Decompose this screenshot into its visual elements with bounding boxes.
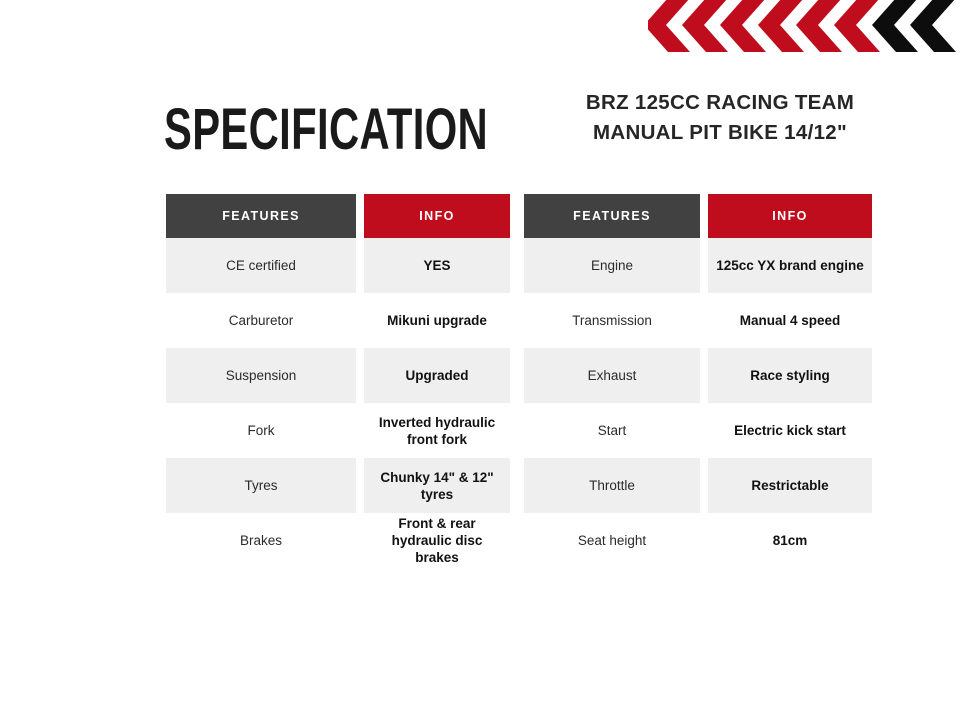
table-row: YES (364, 238, 510, 293)
table-row: 81cm (708, 513, 872, 568)
column-header-features: FEATURES (166, 194, 356, 238)
product-title-line-2: MANUAL PIT BIKE 14/12" (520, 118, 920, 148)
table-row: Manual 4 speed (708, 293, 872, 348)
table-row: Transmission (524, 293, 700, 348)
table-row: Throttle (524, 458, 700, 513)
table-row: Restrictable (708, 458, 872, 513)
table-row: Seat height (524, 513, 700, 568)
product-title: BRZ 125CC RACING TEAM MANUAL PIT BIKE 14… (520, 88, 920, 148)
table-row: Chunky 14" & 12" tyres (364, 458, 510, 513)
table-row: Tyres (166, 458, 356, 513)
right-table: FEATURES Engine Transmission Exhaust Sta… (524, 194, 880, 568)
table-row: Upgraded (364, 348, 510, 403)
table-row: Start (524, 403, 700, 458)
table-row: Engine (524, 238, 700, 293)
table-row: Exhaust (524, 348, 700, 403)
table-row: Front & rear hydraulic disc brakes (364, 513, 510, 568)
chevron-icon (910, 0, 956, 52)
table-row: Suspension (166, 348, 356, 403)
chevron-band (648, 0, 960, 52)
table-row: Brakes (166, 513, 356, 568)
table-row: Mikuni upgrade (364, 293, 510, 348)
table-row: Inverted hydraulic front fork (364, 403, 510, 458)
table-row: Fork (166, 403, 356, 458)
specification-tables: FEATURES CE certified Carburetor Suspens… (166, 194, 880, 568)
column-header-info: INFO (364, 194, 510, 238)
table-row: CE certified (166, 238, 356, 293)
right-table-features-column: FEATURES Engine Transmission Exhaust Sta… (524, 194, 700, 568)
left-table-features-column: FEATURES CE certified Carburetor Suspens… (166, 194, 356, 568)
table-row: Carburetor (166, 293, 356, 348)
left-table-info-column: INFO YES Mikuni upgrade Upgraded Inverte… (364, 194, 510, 568)
page-title: SPECIFICATION (164, 101, 488, 159)
table-row: 125cc YX brand engine (708, 238, 872, 293)
column-header-info: INFO (708, 194, 872, 238)
table-row: Race styling (708, 348, 872, 403)
product-title-line-1: BRZ 125CC RACING TEAM (586, 91, 854, 114)
table-row: Electric kick start (708, 403, 872, 458)
right-table-info-column: INFO 125cc YX brand engine Manual 4 spee… (708, 194, 872, 568)
column-header-features: FEATURES (524, 194, 700, 238)
left-table: FEATURES CE certified Carburetor Suspens… (166, 194, 524, 568)
